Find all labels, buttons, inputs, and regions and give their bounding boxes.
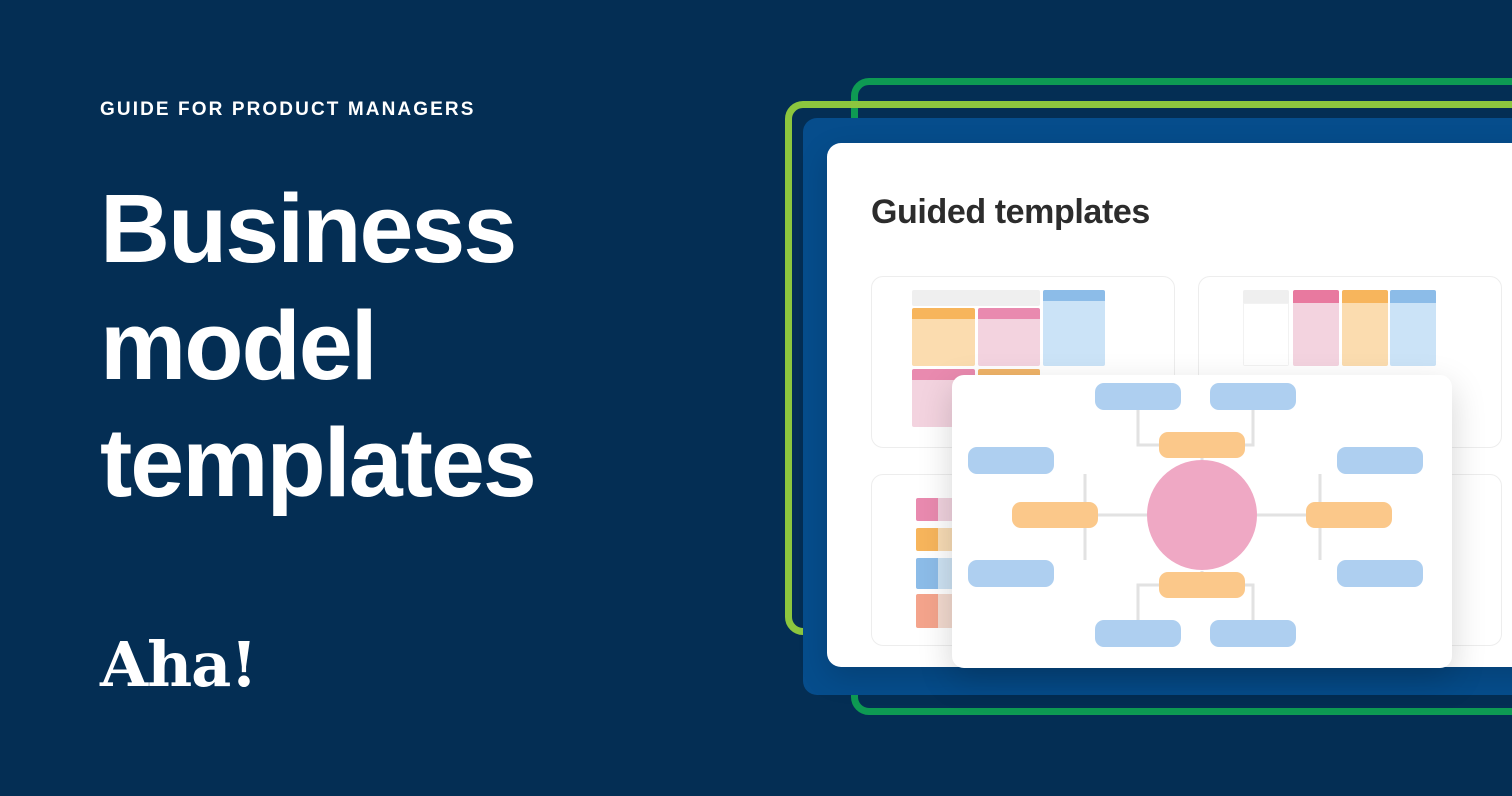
column-body — [1342, 303, 1388, 366]
column-header — [1342, 290, 1388, 303]
kanban-column-gray — [1243, 290, 1289, 366]
column-body — [1390, 303, 1436, 366]
connector-bottom-right — [1245, 585, 1253, 620]
column-body — [1293, 303, 1339, 366]
lane-marker — [916, 594, 938, 628]
kanban-column-orange — [1342, 290, 1388, 366]
column-header — [1293, 290, 1339, 303]
branch-right — [1306, 502, 1392, 528]
lane-marker — [916, 498, 938, 521]
mind-map-diagram — [952, 375, 1452, 668]
connector-top-left — [1138, 410, 1159, 445]
kanban-column-pink — [1293, 290, 1339, 366]
canvas-block-blue — [1043, 290, 1105, 366]
column-header — [1243, 290, 1289, 303]
leaf-right-bottom — [1337, 560, 1423, 587]
block-body — [978, 319, 1040, 366]
leaf-top-right — [1210, 383, 1296, 410]
block-body — [1043, 301, 1105, 366]
column-body — [1243, 303, 1289, 366]
leaf-top-left — [1095, 383, 1181, 410]
canvas-block-orange — [912, 308, 975, 366]
hero-text-column: GUIDE FOR PRODUCT MANAGERS Business mode… — [100, 0, 740, 796]
block-header — [978, 308, 1040, 319]
mind-map-center-node — [1147, 460, 1257, 570]
lane-marker — [916, 558, 938, 589]
canvas-block-header-bar — [912, 290, 1040, 306]
mind-map-card[interactable] — [952, 375, 1452, 668]
block-header — [912, 290, 1040, 306]
block-body — [912, 319, 975, 366]
leaf-left-top — [968, 447, 1054, 474]
leaf-right-top — [1337, 447, 1423, 474]
branch-bottom — [1159, 572, 1245, 598]
leaf-bottom-right — [1210, 620, 1296, 647]
lane-marker — [916, 528, 938, 551]
connector-top-right — [1245, 410, 1253, 445]
aha-logo: Aha! — [100, 634, 257, 696]
connector-bottom-left — [1138, 585, 1159, 620]
kanban-column-blue — [1390, 290, 1436, 366]
hero-eyebrow: GUIDE FOR PRODUCT MANAGERS — [100, 99, 476, 121]
canvas-block-pink — [978, 308, 1040, 366]
column-header — [1390, 290, 1436, 303]
hero-headline: Business model templates — [100, 170, 700, 521]
leaf-bottom-left — [1095, 620, 1181, 647]
panel-title: Guided templates — [871, 193, 1150, 232]
block-header — [1043, 290, 1105, 301]
branch-top — [1159, 432, 1245, 458]
leaf-left-bottom — [968, 560, 1054, 587]
block-header — [912, 308, 975, 319]
branch-left — [1012, 502, 1098, 528]
